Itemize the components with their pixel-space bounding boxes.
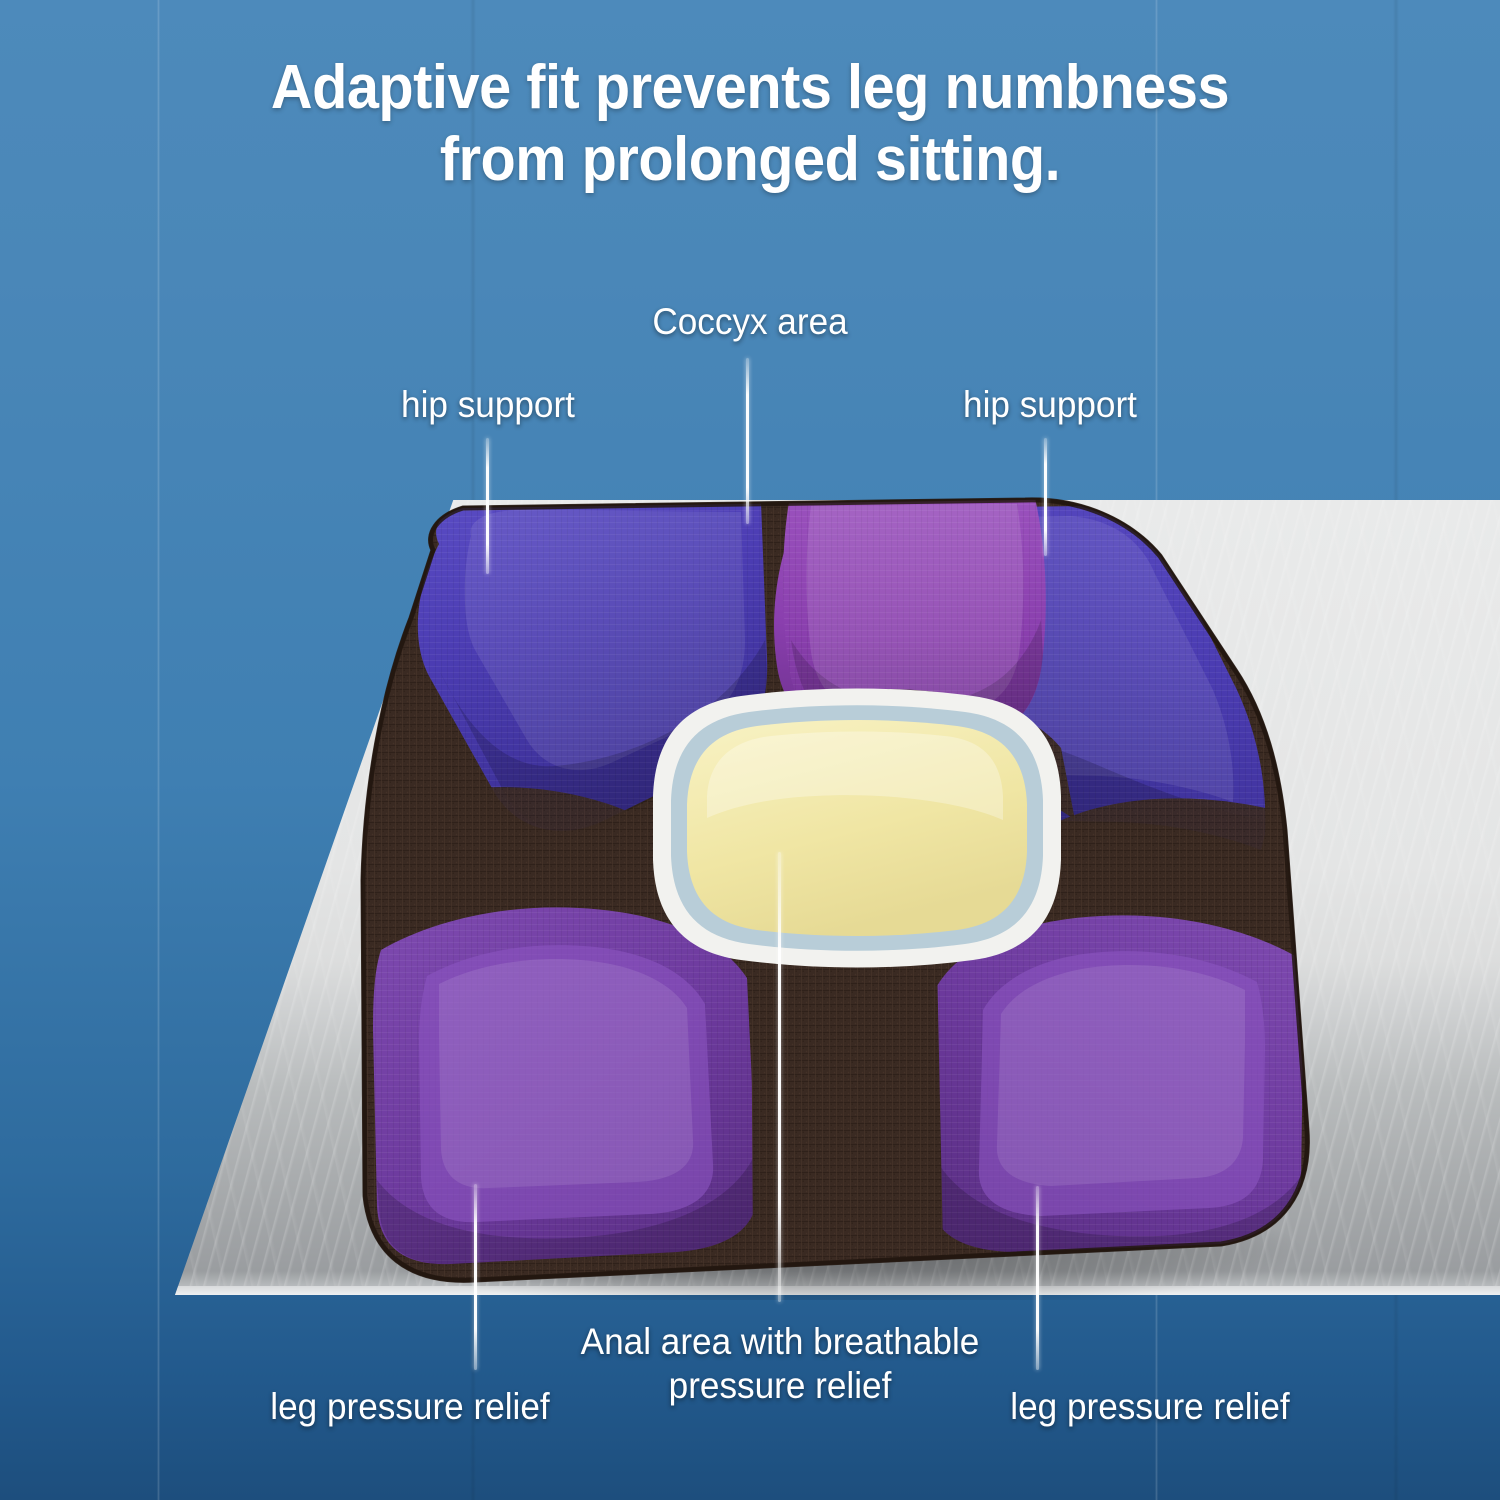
callout-hip-support-right: hip support xyxy=(889,383,1212,427)
leader-line-hip-support-left xyxy=(486,438,489,574)
breathable-vent xyxy=(647,684,1061,984)
leader-line-coccyx xyxy=(746,358,749,524)
callout-leg-relief-right: leg pressure relief xyxy=(970,1385,1331,1429)
headline-line-2: from prolonged sitting. xyxy=(127,124,1373,196)
seat-cushion-illustration xyxy=(175,490,1355,1300)
callout-hip-support-left: hip support xyxy=(327,383,650,427)
callout-coccyx-area: Coccyx area xyxy=(570,300,931,344)
leader-line-anal-area xyxy=(778,852,781,1302)
leader-line-leg-relief-right xyxy=(1036,1186,1039,1370)
callout-leg-relief-left: leg pressure relief xyxy=(230,1385,591,1429)
headline-line-1: Adaptive fit prevents leg numbness xyxy=(127,52,1373,124)
infographic-canvas: Adaptive fit prevents leg numbness from … xyxy=(0,0,1500,1500)
callout-anal-area: Anal area with breathable pressure relie… xyxy=(543,1320,1018,1407)
backdrop-crease-1 xyxy=(157,0,160,1500)
headline: Adaptive fit prevents leg numbness from … xyxy=(53,52,1448,196)
leader-line-leg-relief-left xyxy=(474,1184,477,1370)
leader-line-hip-support-right xyxy=(1044,438,1047,556)
